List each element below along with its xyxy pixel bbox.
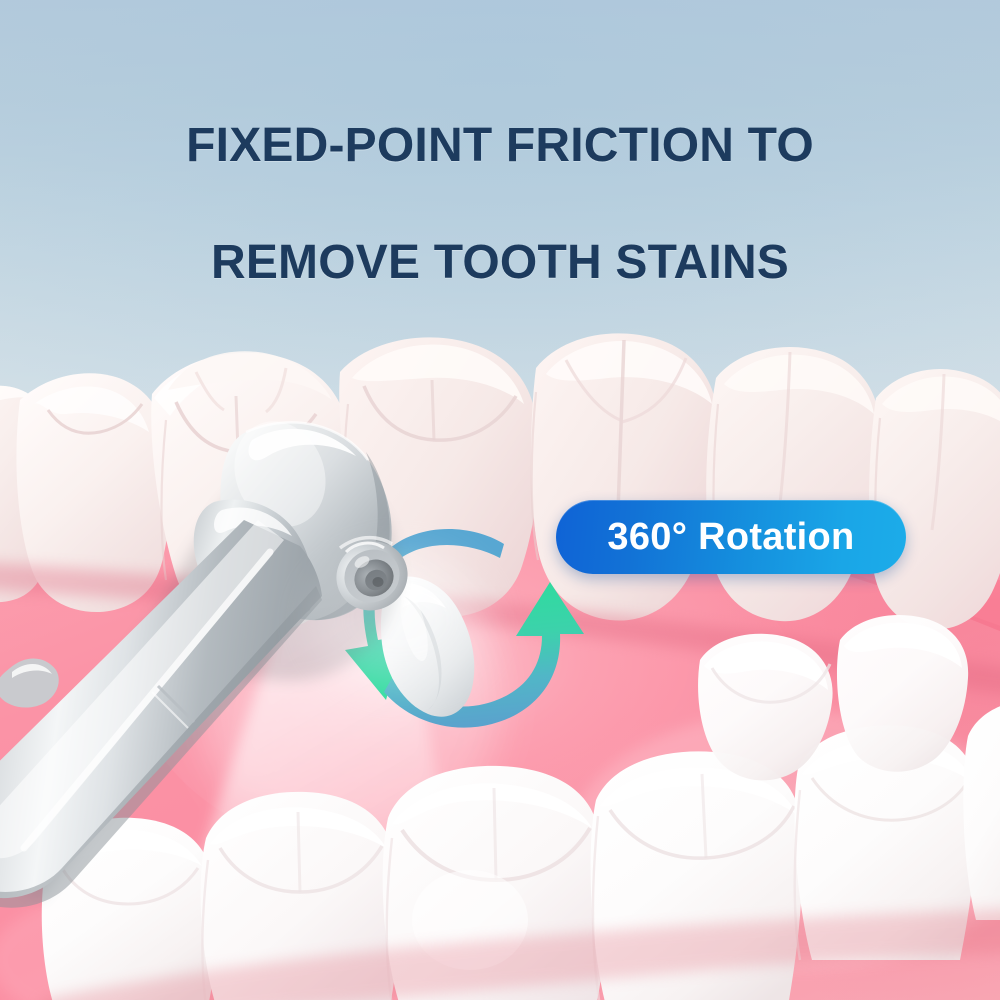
contact-glow <box>310 550 490 690</box>
page-title: FIXED-POINT FRICTION TO REMOVE TOOTH STA… <box>0 58 1000 351</box>
rotation-badge-label: 360° Rotation <box>607 516 854 559</box>
rotation-badge[interactable]: 360° Rotation <box>556 500 906 574</box>
headline-line-1: FIXED-POINT FRICTION TO <box>0 117 1000 176</box>
headline-line-2: REMOVE TOOTH STAINS <box>0 234 1000 293</box>
product-image-canvas: FIXED-POINT FRICTION TO REMOVE TOOTH STA… <box>0 0 1000 1000</box>
